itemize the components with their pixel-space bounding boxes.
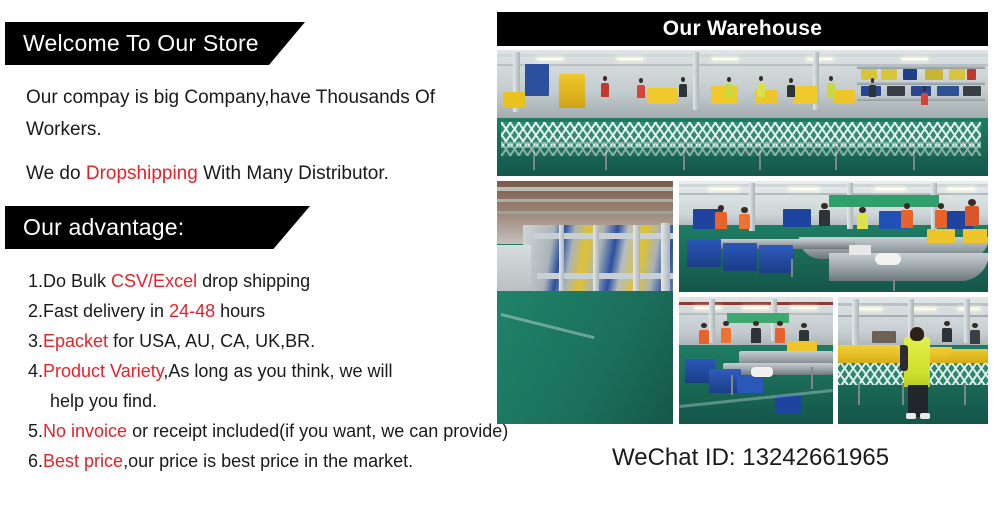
warehouse-shelving-aisle-photo <box>497 181 673 424</box>
intro-line-1: Our compay is big Company,have Thousands… <box>26 82 496 114</box>
advantage-item-5-highlight: No invoice <box>43 421 127 441</box>
intro-line-3: We do Dropshipping With Many Distributor… <box>26 158 496 190</box>
advantage-item-1-post: drop shipping <box>197 271 310 291</box>
warehouse-banner: Our Warehouse <box>497 12 988 46</box>
advantage-item-4-number: 4. <box>28 361 43 381</box>
intro-line-3-post: With Many Distributor. <box>198 163 389 184</box>
wechat-id-text: WeChat ID: 13242661965 <box>612 444 889 472</box>
advantage-item-3-post: for USA, AU, CA, UK,BR. <box>108 331 315 351</box>
store-description-banner: Welcome To Our Store Our compay is big C… <box>0 0 1000 516</box>
warehouse-panorama-photo <box>497 50 988 176</box>
welcome-banner-label: Welcome To Our Store <box>23 30 259 57</box>
warehouse-banner-label: Our Warehouse <box>663 17 822 41</box>
advantage-item-2-highlight: 24-48 <box>169 301 215 321</box>
advantage-item-6: 6.Best price,our price is best price in … <box>28 446 628 476</box>
advantage-item-5-number: 5. <box>28 421 43 441</box>
advantage-item-3-highlight: Epacket <box>43 331 108 351</box>
advantage-item-1-highlight: CSV/Excel <box>111 271 197 291</box>
advantage-item-2-post: hours <box>215 301 265 321</box>
intro-spacer <box>26 146 496 158</box>
intro-paragraph: Our compay is big Company,have Thousands… <box>26 82 496 190</box>
advantage-item-1-pre: Do Bulk <box>43 271 111 291</box>
advantage-item-3-number: 3. <box>28 331 43 351</box>
advantage-item-2-number: 2. <box>28 301 43 321</box>
left-text-column: Welcome To Our Store Our compay is big C… <box>0 0 495 516</box>
intro-line-3-highlight: Dropshipping <box>86 163 198 184</box>
advantage-item-6-highlight: Best price <box>43 451 123 471</box>
advantage-item-2-pre: Fast delivery in <box>43 301 169 321</box>
advantage-item-4-highlight: Product Variety <box>43 361 163 381</box>
packing-line-photo <box>679 297 833 424</box>
warehouse-photo-collage <box>497 50 988 424</box>
advantage-banner-label: Our advantage: <box>23 214 184 241</box>
advantage-item-6-number: 6. <box>28 451 43 471</box>
advantage-item-1-number: 1. <box>28 271 43 291</box>
worker-at-roller-conveyor-photo <box>838 297 988 424</box>
intro-line-2: Workers. <box>26 114 496 146</box>
intro-line-3-pre: We do <box>26 163 86 184</box>
warehouse-photo-column: Our Warehouse <box>497 12 988 412</box>
advantage-item-5-post: or receipt included(if you want, we can … <box>127 421 508 441</box>
advantage-banner: Our advantage: <box>5 206 310 249</box>
advantage-item-4-post: ,As long as you think, we will <box>163 361 392 381</box>
welcome-banner: Welcome To Our Store <box>5 22 305 65</box>
advantage-item-6-post: ,our price is best price in the market. <box>123 451 413 471</box>
sorting-conveyor-photo <box>679 181 988 292</box>
